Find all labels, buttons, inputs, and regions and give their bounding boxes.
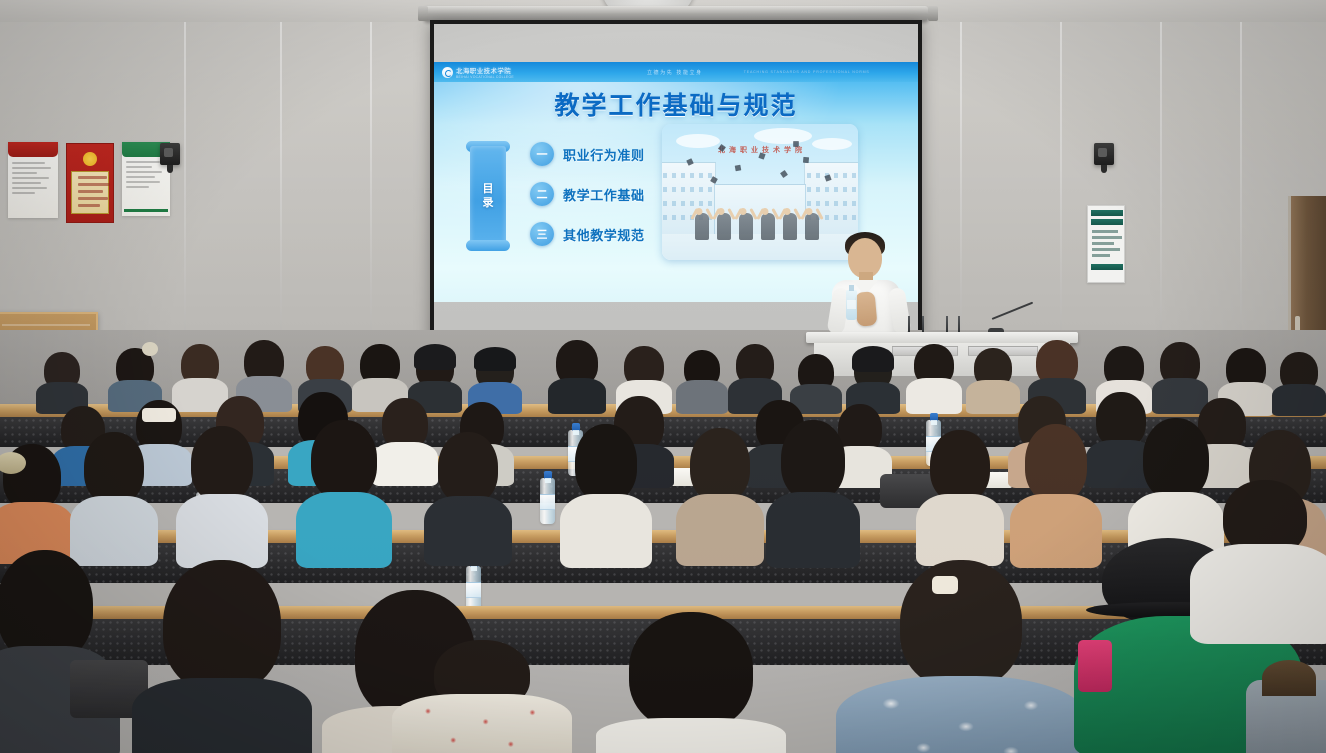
information-sign xyxy=(1087,205,1125,283)
sign-footer xyxy=(1091,264,1123,270)
toc-scroll-panel: 目 录 xyxy=(466,138,510,254)
attendee xyxy=(560,424,652,566)
toc-item-label: 职业行为准则 xyxy=(563,145,645,164)
college-logo: 北海职业技术学院 BEIHAI VOCATIONAL COLLEGE xyxy=(442,65,514,79)
toc-item-label: 教学工作基础 xyxy=(563,185,645,204)
hair-clip-icon xyxy=(932,576,958,594)
attendee-floral-jacket xyxy=(836,560,1086,753)
attendee xyxy=(70,432,158,564)
poster-footer-bar xyxy=(124,209,168,212)
toc-number-icon: 三 xyxy=(530,222,554,246)
logo-mark-icon xyxy=(442,67,453,78)
screen-roller xyxy=(424,6,928,21)
slide-motto: 立德为先 技能立身 xyxy=(647,69,703,76)
slide-english-subtitle: TEACHING STANDARDS AND PROFESSIONAL NORM… xyxy=(744,70,870,74)
scroll-cap-bottom xyxy=(466,240,510,251)
poster-header xyxy=(8,142,58,157)
hair-clip-icon xyxy=(142,408,176,422)
attendee xyxy=(676,350,728,412)
toc-item-1: 一 职业行为准则 xyxy=(530,134,670,174)
toc-char-bottom: 录 xyxy=(483,197,494,209)
attendee xyxy=(906,344,962,412)
wall-speaker-stem xyxy=(1101,165,1107,173)
poster-card xyxy=(71,171,110,215)
attendee xyxy=(916,430,1004,564)
roller-end-right xyxy=(928,6,938,21)
pink-item xyxy=(1078,640,1112,692)
water-bottle xyxy=(540,478,555,524)
attendee xyxy=(1272,352,1326,412)
slide-title: 教学工作基础与规范 xyxy=(434,86,918,122)
attendee xyxy=(36,352,88,410)
slide-header-bar: 北海职业技术学院 BEIHAI VOCATIONAL COLLEGE 立德为先 … xyxy=(434,62,918,82)
poster-lines xyxy=(12,162,54,197)
sign-subheader xyxy=(1091,219,1123,225)
attendee-foreground xyxy=(392,640,572,753)
attendee xyxy=(176,426,268,566)
attendee-foreground xyxy=(1190,480,1326,640)
star-icon xyxy=(83,152,97,166)
wall-speaker-stem xyxy=(167,165,173,173)
poster-flag-red xyxy=(66,143,114,223)
toc-char-top: 目 xyxy=(483,183,494,195)
attendee xyxy=(548,340,606,412)
attendee-foreground xyxy=(596,612,786,753)
toc-body: 目 录 xyxy=(470,146,506,246)
attendee xyxy=(468,350,522,410)
toc-item-3: 三 其他教学规范 xyxy=(530,214,670,254)
toc-number-icon: 一 xyxy=(530,142,554,166)
attendee xyxy=(846,350,900,412)
roller-end-left xyxy=(418,6,428,21)
attendee xyxy=(766,420,860,566)
wall-speaker-icon xyxy=(1094,143,1114,165)
lectern-water-bottle xyxy=(846,290,857,320)
attendee-foreground xyxy=(0,550,120,753)
logo-text: 北海职业技术学院 xyxy=(456,65,514,75)
poster-notice-white xyxy=(8,142,58,218)
toc-number-icon: 二 xyxy=(530,182,554,206)
slide-toc-list: 一 职业行为准则 二 教学工作基础 三 其他教学规范 xyxy=(530,134,670,254)
attendee xyxy=(0,444,74,564)
logo-subtext: BEIHAI VOCATIONAL COLLEGE xyxy=(456,75,514,79)
bag-strap xyxy=(1262,660,1316,696)
attendee xyxy=(424,432,512,564)
toc-item-label: 其他教学规范 xyxy=(563,225,645,244)
attendee-foreground xyxy=(132,560,312,753)
sign-header xyxy=(1091,210,1123,216)
poster-lines xyxy=(126,161,166,191)
toc-item-2: 二 教学工作基础 xyxy=(530,174,670,214)
attendee xyxy=(676,428,764,564)
lecture-hall-photo: 北海职业技术学院 BEIHAI VOCATIONAL COLLEGE 立德为先 … xyxy=(0,0,1326,753)
attendee xyxy=(296,420,392,566)
floral-jacket xyxy=(836,676,1086,753)
wall-speaker-icon xyxy=(160,143,180,165)
